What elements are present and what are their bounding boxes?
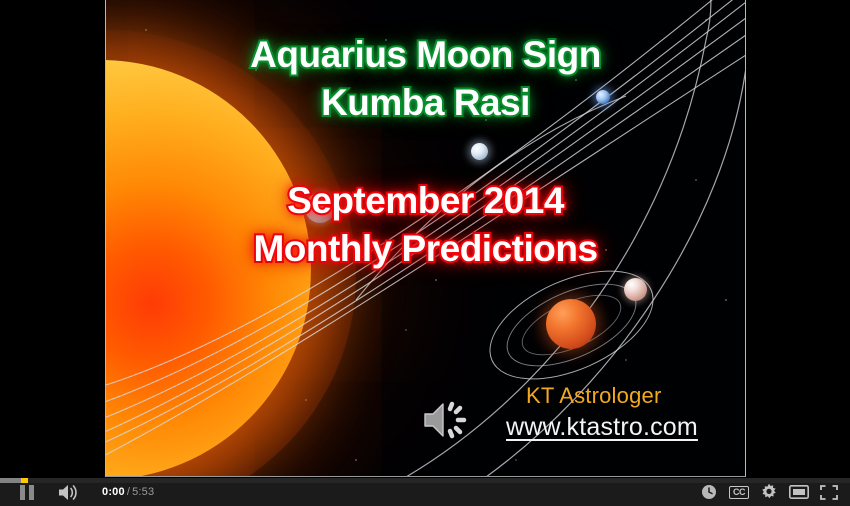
video-stage[interactable]: Aquarius Moon Sign Kumba Rasi September … xyxy=(0,0,850,478)
gear-icon[interactable] xyxy=(754,479,784,505)
planet-neptune xyxy=(596,90,610,104)
credit-block: KT Astrologer www.ktastro.com xyxy=(506,382,698,444)
player-controls-bar: 0:00/5:53 CC xyxy=(0,478,850,506)
fullscreen-icon[interactable] xyxy=(814,479,844,505)
watch-later-icon[interactable] xyxy=(694,479,724,505)
planet-mars xyxy=(624,278,647,301)
time-display: 0:00/5:53 xyxy=(102,486,154,498)
total-time: 5:53 xyxy=(132,486,154,498)
current-time: 0:00 xyxy=(102,486,125,498)
video-player: Aquarius Moon Sign Kumba Rasi September … xyxy=(0,0,850,506)
closed-captions-icon[interactable]: CC xyxy=(724,479,754,505)
progress-played xyxy=(21,478,28,483)
cc-label: CC xyxy=(729,486,749,499)
video-frame[interactable]: Aquarius Moon Sign Kumba Rasi September … xyxy=(105,0,746,477)
theater-mode-icon[interactable] xyxy=(784,479,814,505)
speaker-icon xyxy=(419,396,471,444)
credit-author: KT Astrologer xyxy=(506,382,698,410)
time-separator: / xyxy=(127,486,130,498)
controls-right-group: CC xyxy=(694,478,844,506)
planet-saturn xyxy=(546,299,596,349)
credit-website-link[interactable]: www.ktastro.com xyxy=(506,410,698,444)
planet-uranus xyxy=(471,143,488,160)
planet-jupiter xyxy=(305,193,335,223)
